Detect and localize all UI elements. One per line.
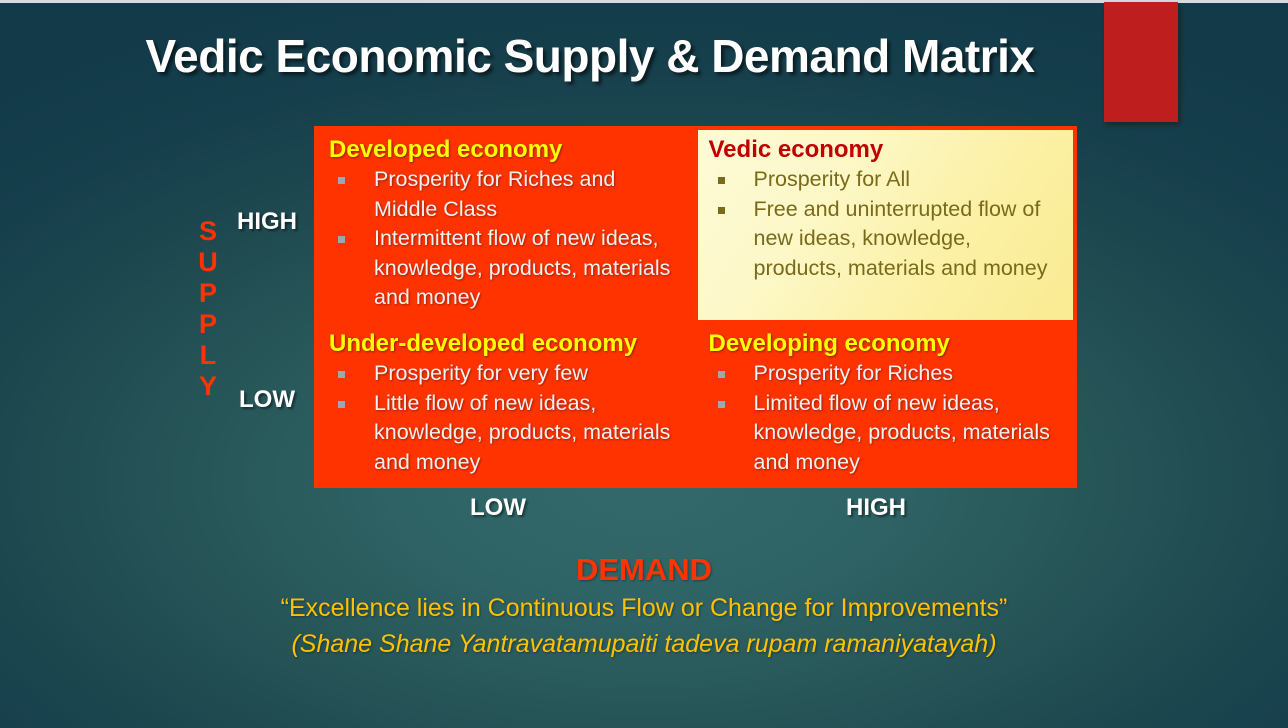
supply-letter-p1: P [193,278,223,309]
quadrant-title: Developing economy [709,330,1064,358]
supply-letter-l: L [193,340,223,371]
supply-axis-label: S U P P L Y [193,216,223,402]
list-item: Prosperity for very few [329,359,684,389]
quadrant-bullet-list: Prosperity for Riches Limited flow of ne… [709,359,1064,477]
page-title: Vedic Economic Supply & Demand Matrix [0,29,1180,83]
supply-letter-y: Y [193,371,223,402]
quote-line-sanskrit: (Shane Shane Yantravatamupaiti tadeva ru… [0,630,1288,659]
quote-line-english: “Excellence lies in Continuous Flow or C… [0,594,1288,623]
demand-tick-low: LOW [470,494,526,522]
list-item: Little flow of new ideas, knowledge, pro… [329,389,684,478]
quadrant-bullet-list: Prosperity for All Free and uninterrupte… [709,165,1064,283]
supply-demand-matrix: Developed economy Prosperity for Riches … [314,126,1077,488]
quadrant-bullet-list: Prosperity for Riches and Middle Class I… [329,165,684,313]
list-item: Free and uninterrupted flow of new ideas… [709,195,1064,284]
slide-canvas: Vedic Economic Supply & Demand Matrix S … [0,0,1288,728]
list-item: Limited flow of new ideas, knowledge, pr… [709,389,1064,478]
quadrant-developing-economy[interactable]: Developing economy Prosperity for Riches… [698,324,1074,496]
list-item: Prosperity for Riches and Middle Class [329,165,684,224]
quadrant-vedic-economy[interactable]: Vedic economy Prosperity for All Free an… [698,130,1074,320]
supply-letter-p2: P [193,309,223,340]
supply-tick-high: HIGH [237,208,297,236]
quadrant-bullet-list: Prosperity for very few Little flow of n… [329,359,684,477]
demand-axis-label: DEMAND [0,552,1288,588]
quadrant-title: Developed economy [329,136,684,164]
quadrant-under-developed-economy[interactable]: Under-developed economy Prosperity for v… [318,324,694,496]
top-edge-strip [0,0,1288,3]
list-item: Prosperity for All [709,165,1064,195]
list-item: Intermittent flow of new ideas, knowledg… [329,224,684,313]
demand-tick-high: HIGH [846,494,906,522]
supply-tick-low: LOW [239,386,295,414]
quadrant-title: Vedic economy [709,136,1064,164]
quadrant-title: Under-developed economy [329,330,684,358]
supply-letter-u: U [193,247,223,278]
supply-letter-s: S [193,216,223,247]
list-item: Prosperity for Riches [709,359,1064,389]
quadrant-developed-economy[interactable]: Developed economy Prosperity for Riches … [318,130,694,320]
